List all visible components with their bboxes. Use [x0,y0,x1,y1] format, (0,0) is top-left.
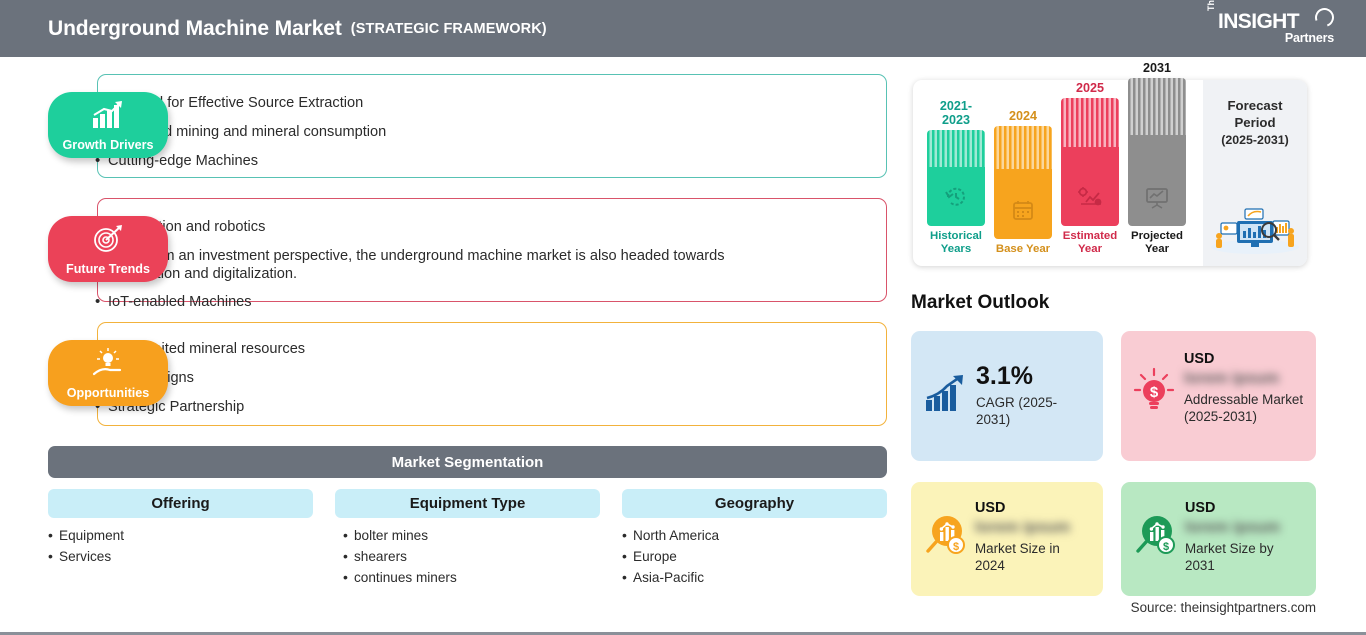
svg-text:$: $ [953,541,959,553]
bar-caption: Projected Year [1128,230,1186,256]
calendar-icon [1011,198,1035,227]
market-size-2031-unit: USD [1185,500,1304,516]
segmentation-list-offering: Equipment Services [48,528,313,564]
list-item: Automation and robotics [95,219,755,237]
market-outlook-title: Market Outlook [911,292,1049,314]
gear-chart-icon [1077,185,1103,214]
bar-year-label: 2031 [1128,61,1186,75]
insight-partners-logo: The INSIGHT Partners [1206,9,1336,49]
market-segmentation-title: Market Segmentation [48,446,887,478]
forecast-period-title-line1: Forecast [1203,98,1307,115]
lightbulb-hand-icon [90,348,126,383]
forecast-bars: 2021-2023 Historical Years [927,80,1195,266]
segmentation-header-equipment-type: Equipment Type [335,489,600,518]
list-item: Even from an investment perspective, the… [95,248,755,284]
forecast-bar-projected: 2031 Projected Year [1128,61,1186,256]
segmentation-column-equipment-type: Equipment Type bolter mines shearers con… [335,489,600,591]
addressable-unit: USD [1184,351,1304,367]
list-item: Services [48,549,313,564]
forecast-period-chart: 2021-2023 Historical Years [913,80,1307,266]
list-item: continues miners [343,570,600,585]
page-header: Underground Machine Market (STRATEGIC FR… [0,0,1366,57]
list-item: IoT-enabled Machines [95,294,755,312]
target-dart-icon [91,224,125,259]
market-size-2024-unit: USD [975,500,1091,516]
growth-drivers-label: Growth Drivers [63,139,154,152]
segmentation-header-offering: Offering [48,489,313,518]
outlook-card-cagr: 3.1% CAGR (2025-2031) [911,331,1103,461]
segmentation-header-geography: Geography [622,489,887,518]
forecast-period-range: (2025-2031) [1203,133,1307,147]
cagr-label: CAGR (2025-2031) [976,394,1091,428]
market-size-2024-masked-value: lorem ipsum [975,519,1091,537]
list-item: bolter mines [343,528,600,543]
cagr-value: 3.1% [976,364,1091,389]
bar-year-label: 2025 [1061,81,1119,95]
magnifier-chart-dollar-icon: $ [923,512,967,563]
forecast-bar-estimated: 2025 [1061,81,1119,256]
market-size-2024-label: Market Size in 2024 [975,540,1091,574]
opportunities-badge[interactable]: Opportunities [48,340,168,406]
infographic-page: Underground Machine Market (STRATEGIC FR… [0,0,1366,635]
future-trends-list: Automation and robotics Even from an inv… [95,219,755,323]
forecast-period-title-line2: Period [1203,115,1307,132]
bar-caption: Estimated Year [1061,230,1119,256]
logo-arc-icon [1312,5,1337,30]
data-analysis-illustration [1207,199,1303,260]
addressable-label: Addressable Market (2025-2031) [1184,391,1304,425]
page-subtitle: (STRATEGIC FRAMEWORK) [351,21,547,37]
future-trends-badge[interactable]: Future Trends [48,216,168,282]
segmentation-list-geography: North America Europe Asia-Pacific [622,528,887,585]
bar-caption: Historical Years [927,230,985,256]
svg-text:$: $ [1150,384,1159,401]
segmentation-column-geography: Geography North America Europe Asia-Paci… [622,489,887,591]
forecast-period-panel: Forecast Period (2025-2031) [1203,80,1307,266]
lightbulb-dollar-icon: $ [1133,367,1175,418]
market-size-2031-masked-value: lorem ipsum [1185,519,1304,537]
opportunities-label: Opportunities [67,387,150,400]
logo-partners-text: Partners [1285,31,1334,45]
market-size-2031-label: Market Size by 2031 [1185,540,1304,574]
outlook-card-addressable-market: $ USD lorem ipsum Addressable Market (20… [1121,331,1316,461]
clock-rewind-icon [944,185,968,214]
growth-bar-arrow-icon [923,374,967,419]
forecast-bar-historical: 2021-2023 Historical Years [927,99,985,256]
outlook-card-market-size-2031: $ USD lorem ipsum Market Size by 2031 [1121,482,1316,596]
outlook-card-market-size-2024: $ USD lorem ipsum Market Size in 2024 [911,482,1103,596]
addressable-masked-value: lorem ipsum [1184,370,1304,388]
svg-text:$: $ [1163,541,1169,553]
presentation-monitor-icon [1144,185,1170,214]
list-item: Equipment [48,528,313,543]
bar-year-label: 2024 [994,109,1052,123]
bar-year-label: 2021-2023 [927,99,985,127]
future-trends-label: Future Trends [66,263,150,276]
forecast-bar-base: 2024 [994,109,1052,256]
segmentation-list-equipment-type: bolter mines shearers continues miners [343,528,600,585]
bar-caption: Base Year [994,243,1052,256]
source-attribution: Source: theinsightpartners.com [1131,600,1316,615]
list-item: shearers [343,549,600,564]
page-title: Underground Machine Market [48,17,342,41]
list-item: Asia-Pacific [622,570,887,585]
bar-chart-arrow-icon [91,100,125,135]
list-item: North America [622,528,887,543]
logo-the-text: The [1206,0,1216,11]
list-item: Europe [622,549,887,564]
growth-drivers-badge[interactable]: Growth Drivers [48,92,168,158]
magnifier-chart-dollar-icon: $ [1133,512,1177,563]
segmentation-column-offering: Offering Equipment Services [48,489,313,570]
